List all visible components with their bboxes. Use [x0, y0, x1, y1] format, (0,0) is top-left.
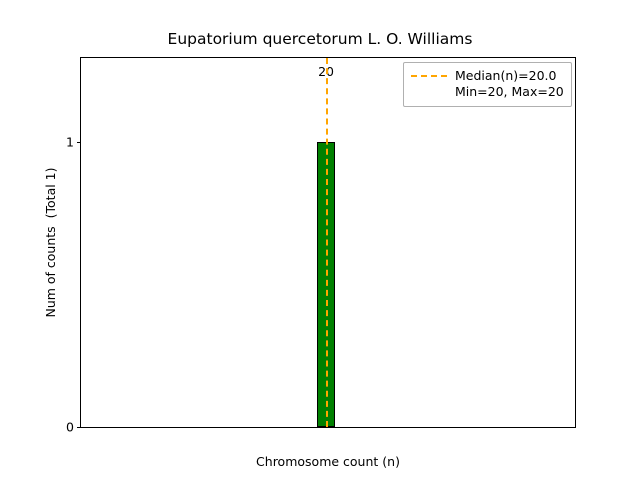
chart-legend: Median(n)=20.0 Min=20, Max=20 — [403, 62, 572, 107]
legend-minmax-text: Min=20, Max=20 — [455, 84, 564, 100]
legend-dashed-line-icon — [411, 68, 447, 77]
y-tick-label: 1 — [66, 136, 74, 149]
y-tick-label: 0 — [66, 421, 74, 434]
chart-figure: Eupatorium quercetorum L. O. Williams 0 … — [0, 0, 640, 480]
legend-entry-text: Median(n)=20.0 Min=20, Max=20 — [455, 68, 564, 100]
plot-inner — [81, 58, 575, 427]
legend-entry-median: Median(n)=20.0 Min=20, Max=20 — [411, 68, 564, 100]
plot-area: 0 1 20 — [80, 57, 576, 428]
x-axis-label: Chromosome count (n) — [80, 455, 576, 469]
y-axis-label: Num of counts (Total 1) — [44, 57, 58, 428]
median-line — [326, 58, 328, 427]
y-tick-mark — [77, 427, 81, 428]
legend-median-text: Median(n)=20.0 — [455, 68, 564, 84]
chart-title: Eupatorium quercetorum L. O. Williams — [0, 30, 640, 48]
